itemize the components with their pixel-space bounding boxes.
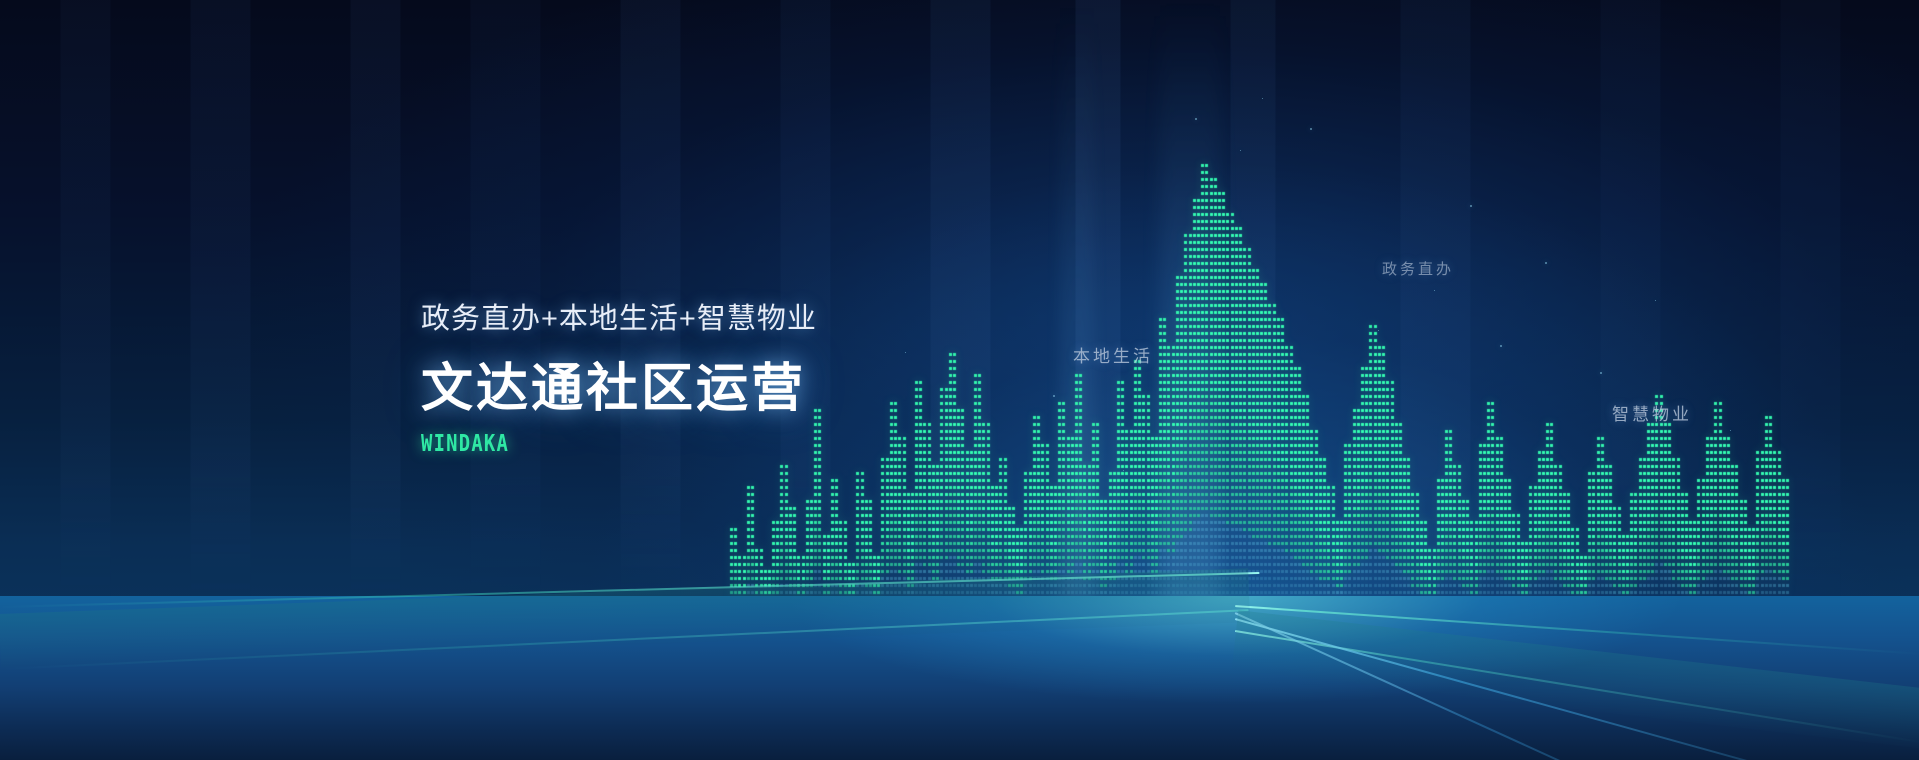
sparkle-dot [1434, 290, 1435, 291]
sparkle-dot [1240, 150, 1241, 151]
chart-label-local-life: 本地生活 [1073, 342, 1153, 367]
headline-block: 政务直办+本地生活+智慧物业 文达通社区运营 WINDAKA [421, 295, 1121, 457]
sparkle-dot [1730, 430, 1731, 431]
sparkle-dot [1262, 98, 1263, 99]
sparkle-dot [905, 352, 906, 353]
sparkle-dot [1053, 395, 1055, 397]
banner-hero: 政务直办+本地生活+智慧物业 文达通社区运营 WINDAKA 本地生活 政务直办… [0, 0, 1919, 760]
page-title: 文达通社区运营 [421, 346, 1121, 421]
sparkle-dot [1195, 118, 1197, 120]
sparkle-dot [1600, 372, 1602, 374]
sparkle-dot [1545, 262, 1547, 264]
chart-label-gov-service: 政务直办 [1382, 258, 1454, 279]
brand-wordmark: WINDAKA [421, 431, 995, 457]
ground-band [1232, 610, 1919, 749]
sparkle-dot [1310, 128, 1312, 130]
sparkle-dot [1655, 300, 1656, 301]
ground-plane [0, 596, 1919, 760]
headline-subtitle: 政务直办+本地生活+智慧物业 [421, 295, 1121, 337]
sparkle-dot [1500, 345, 1502, 347]
sparkle-dot [1470, 205, 1472, 207]
sparkle-dot [1123, 470, 1124, 471]
chart-label-smart-property: 智慧物业 [1612, 400, 1692, 425]
sparkle-dot [1378, 330, 1379, 331]
